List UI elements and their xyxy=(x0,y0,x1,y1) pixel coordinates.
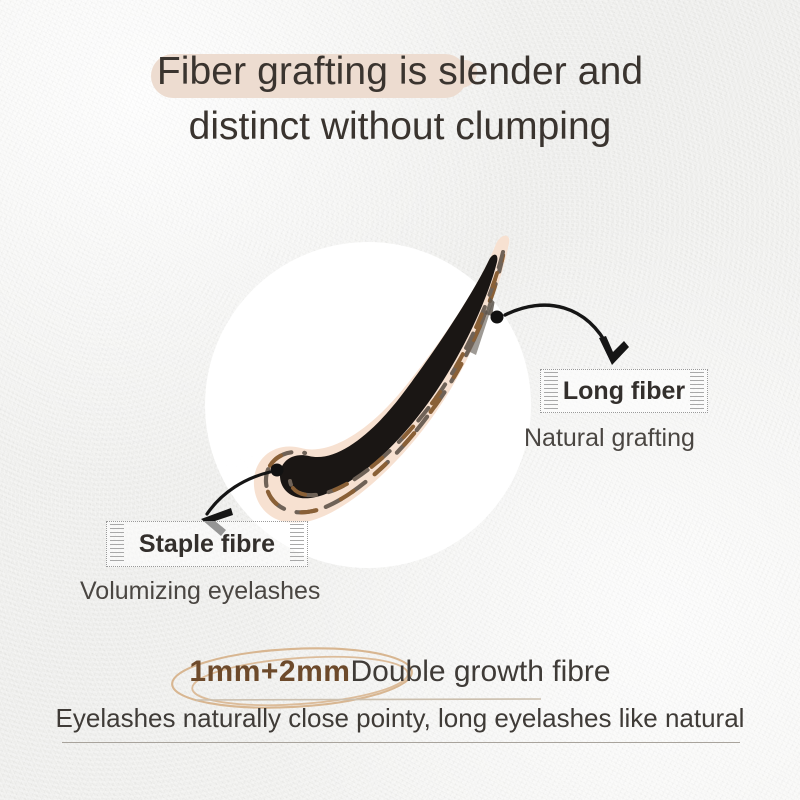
hatch-left-icon xyxy=(544,372,558,410)
callout-box-long-fiber[interactable]: Long fiber xyxy=(540,369,708,413)
footer-divider xyxy=(62,742,740,743)
footer-spec-line: 1mm+2mmDouble growth fibre xyxy=(0,655,800,689)
hatch-right-icon xyxy=(690,372,704,410)
footer-spec-value: 1mm+2mm xyxy=(189,655,350,688)
title-line-1: Fiber grafting is slender and xyxy=(157,46,643,98)
callout-subtitle-staple-fibre: Volumizing eyelashes xyxy=(80,577,320,606)
hatch-right-icon xyxy=(290,524,304,564)
arrowhead-long-fiber xyxy=(599,336,629,365)
arrow-to-long-fiber xyxy=(505,305,609,349)
callout-dot-long-fiber xyxy=(491,311,504,324)
footer-tagline: Eyelashes naturally close pointy, long e… xyxy=(0,703,800,734)
callout-subtitle-long-fiber: Natural grafting xyxy=(524,424,695,453)
poster-canvas: Fiber grafting is slender and distinct w… xyxy=(0,0,800,800)
callout-title-long-fiber: Long fiber xyxy=(563,377,685,406)
page-title: Fiber grafting is slender and distinct w… xyxy=(0,46,800,154)
footer-spec-suffix: Double growth fibre xyxy=(350,655,610,688)
callout-box-staple-fibre[interactable]: Staple fibre xyxy=(106,521,308,567)
callout-title-staple-fibre: Staple fibre xyxy=(139,530,275,559)
title-line1-wrapper: Fiber grafting is slender and xyxy=(157,46,643,98)
callout-dot-staple-fibre xyxy=(271,464,284,477)
hatch-left-icon xyxy=(110,524,124,564)
title-line-2: distinct without clumping xyxy=(0,100,800,154)
